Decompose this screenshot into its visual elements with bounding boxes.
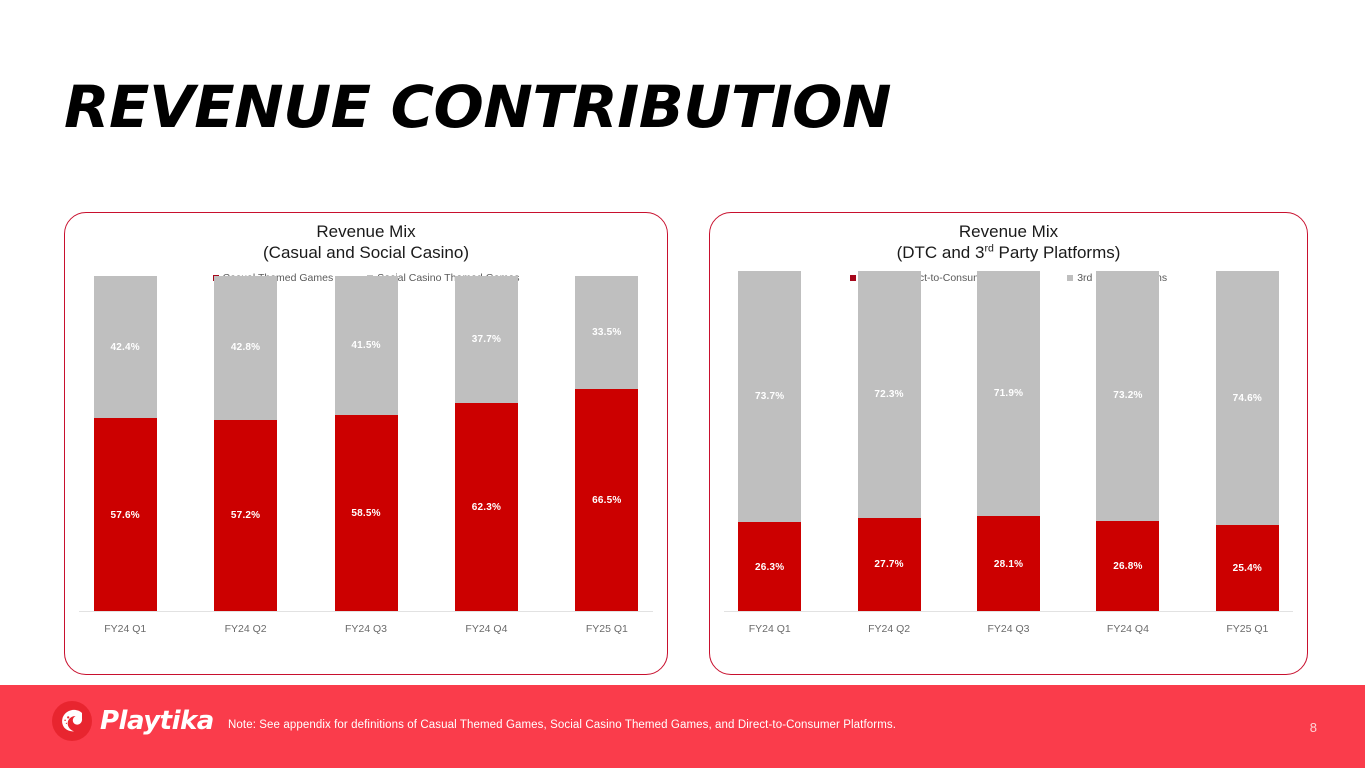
bar-segment-third-party: 71.9% — [977, 271, 1040, 516]
bar-segment-casual: 62.3% — [455, 403, 518, 612]
bar-segment-casual: 57.2% — [214, 420, 277, 612]
bar-segment-third-party: 73.7% — [738, 271, 801, 522]
x-axis-category-labels: FY24 Q1FY24 Q2FY24 Q3FY24 Q4FY25 Q1 — [65, 623, 667, 635]
bars-row: 73.7%26.3%72.3%27.7%71.9%28.1%73.2%26.8%… — [710, 296, 1307, 612]
stacked-bar[interactable]: 73.2%26.8% — [1096, 271, 1159, 612]
playtika-panther-icon — [50, 699, 94, 743]
legend-swatch-icon — [1067, 275, 1073, 281]
playtika-logo: Playtika — [50, 699, 214, 743]
stacked-bar[interactable]: 42.8%57.2% — [214, 276, 277, 612]
bar-slot: 37.7%62.3% — [426, 296, 546, 612]
bar-segment-social-casino: 42.8% — [214, 276, 277, 420]
footer-band: Playtika Note: See appendix for definiti… — [0, 685, 1365, 768]
chart-title-line1: Revenue Mix — [959, 222, 1058, 241]
x-axis-line — [724, 611, 1293, 612]
x-axis-label: FY24 Q2 — [185, 623, 305, 635]
chart-title: Revenue Mix (Casual and Social Casino) — [65, 221, 667, 263]
chart-title-line2: (Casual and Social Casino) — [65, 242, 667, 263]
bar-slot: 71.9%28.1% — [949, 296, 1068, 612]
bar-segment-dtc: 26.3% — [738, 522, 801, 612]
stacked-bar[interactable]: 37.7%62.3% — [455, 276, 518, 612]
bar-segment-third-party: 74.6% — [1216, 271, 1279, 525]
x-axis-label: FY24 Q4 — [426, 623, 546, 635]
chart-title-ordinal-sup: rd — [984, 242, 993, 254]
bar-segment-casual: 58.5% — [335, 415, 398, 612]
bar-segment-third-party: 73.2% — [1096, 271, 1159, 521]
bar-segment-dtc: 27.7% — [858, 518, 921, 612]
stacked-bar[interactable]: 33.5%66.5% — [575, 276, 638, 612]
x-axis-category-labels: FY24 Q1FY24 Q2FY24 Q3FY24 Q4FY25 Q1 — [710, 623, 1307, 635]
bar-segment-casual: 66.5% — [575, 389, 638, 612]
bar-slot: 41.5%58.5% — [306, 296, 426, 612]
chart-title-line2: (DTC and 3rd Party Platforms) — [710, 242, 1307, 263]
chart-card-revenue-mix-casual-social: Revenue Mix (Casual and Social Casino) C… — [64, 212, 668, 675]
x-axis-label: FY24 Q4 — [1068, 623, 1187, 635]
bar-segment-dtc: 28.1% — [977, 516, 1040, 612]
chart-title-line2-post: Party Platforms) — [994, 243, 1121, 262]
footer-note: Note: See appendix for definitions of Ca… — [228, 719, 896, 731]
x-axis-label: FY25 Q1 — [1188, 623, 1307, 635]
chart-title-line1: Revenue Mix — [316, 222, 415, 241]
bar-slot: 74.6%25.4% — [1188, 296, 1307, 612]
stacked-bar[interactable]: 71.9%28.1% — [977, 271, 1040, 612]
plot-area: 42.4%57.6%42.8%57.2%41.5%58.5%37.7%62.3%… — [65, 296, 667, 641]
stacked-bar[interactable]: 72.3%27.7% — [858, 271, 921, 612]
x-axis-line — [79, 611, 653, 612]
x-axis-label: FY24 Q1 — [710, 623, 829, 635]
bar-segment-social-casino: 41.5% — [335, 276, 398, 415]
bar-slot: 42.4%57.6% — [65, 296, 185, 612]
playtika-wordmark: Playtika — [100, 706, 214, 736]
x-axis-label: FY24 Q3 — [949, 623, 1068, 635]
chart-title-line2-pre: (Casual and Social Casino) — [263, 243, 469, 262]
stacked-bar[interactable]: 74.6%25.4% — [1216, 271, 1279, 612]
bar-slot: 72.3%27.7% — [829, 296, 948, 612]
bar-segment-third-party: 72.3% — [858, 271, 921, 518]
bar-slot: 42.8%57.2% — [185, 296, 305, 612]
page-number: 8 — [1310, 720, 1317, 735]
stacked-bar[interactable]: 42.4%57.6% — [94, 276, 157, 612]
bar-segment-social-casino: 33.5% — [575, 276, 638, 389]
bar-segment-dtc: 25.4% — [1216, 525, 1279, 612]
stacked-bar[interactable]: 73.7%26.3% — [738, 271, 801, 612]
bar-segment-dtc: 26.8% — [1096, 521, 1159, 612]
chart-title: Revenue Mix (DTC and 3rd Party Platforms… — [710, 221, 1307, 263]
legend-swatch-icon — [850, 275, 856, 281]
x-axis-label: FY24 Q2 — [829, 623, 948, 635]
chart-title-line2-pre: (DTC and 3 — [897, 243, 985, 262]
bar-segment-social-casino: 37.7% — [455, 276, 518, 403]
bar-slot: 33.5%66.5% — [547, 296, 667, 612]
bar-slot: 73.7%26.3% — [710, 296, 829, 612]
stacked-bar[interactable]: 41.5%58.5% — [335, 276, 398, 612]
bar-slot: 73.2%26.8% — [1068, 296, 1187, 612]
x-axis-label: FY25 Q1 — [547, 623, 667, 635]
x-axis-label: FY24 Q1 — [65, 623, 185, 635]
chart-card-revenue-mix-dtc-third-party: Revenue Mix (DTC and 3rd Party Platforms… — [709, 212, 1308, 675]
page-title: REVENUE CONTRIBUTION — [64, 78, 891, 136]
x-axis-label: FY24 Q3 — [306, 623, 426, 635]
bar-segment-social-casino: 42.4% — [94, 276, 157, 418]
plot-area: 73.7%26.3%72.3%27.7%71.9%28.1%73.2%26.8%… — [710, 296, 1307, 641]
bars-row: 42.4%57.6%42.8%57.2%41.5%58.5%37.7%62.3%… — [65, 296, 667, 612]
bar-segment-casual: 57.6% — [94, 418, 157, 612]
